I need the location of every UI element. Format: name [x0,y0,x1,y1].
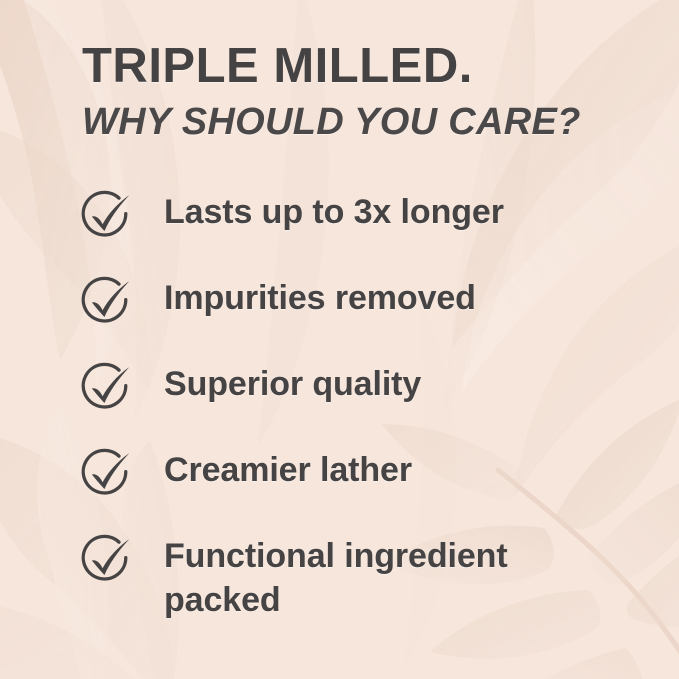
benefits-list: Lasts up to 3x longer Impurities removed… [76,186,659,622]
list-item: Lasts up to 3x longer [76,186,659,272]
benefit-label: Functional ingredient packed [164,530,594,622]
check-circle-icon [76,531,134,589]
benefit-label: Creamier lather [164,444,594,492]
list-item: Creamier lather [76,444,659,530]
headline-block: TRIPLE MILLED. WHY SHOULD YOU CARE? [82,38,642,146]
benefit-label: Impurities removed [164,272,594,320]
page-title: TRIPLE MILLED. [82,38,642,95]
check-circle-icon [76,273,134,331]
poster-content: TRIPLE MILLED. WHY SHOULD YOU CARE? Last… [0,0,679,679]
page-subtitle: WHY SHOULD YOU CARE? [82,98,642,146]
list-item: Superior quality [76,358,659,444]
product-benefits-poster: TRIPLE MILLED. WHY SHOULD YOU CARE? Last… [0,0,679,679]
check-circle-icon [76,445,134,503]
list-item: Impurities removed [76,272,659,358]
check-circle-icon [76,187,134,245]
benefit-label: Lasts up to 3x longer [164,186,594,234]
check-circle-icon [76,359,134,417]
list-item: Functional ingredient packed [76,530,659,622]
benefit-label: Superior quality [164,358,594,406]
